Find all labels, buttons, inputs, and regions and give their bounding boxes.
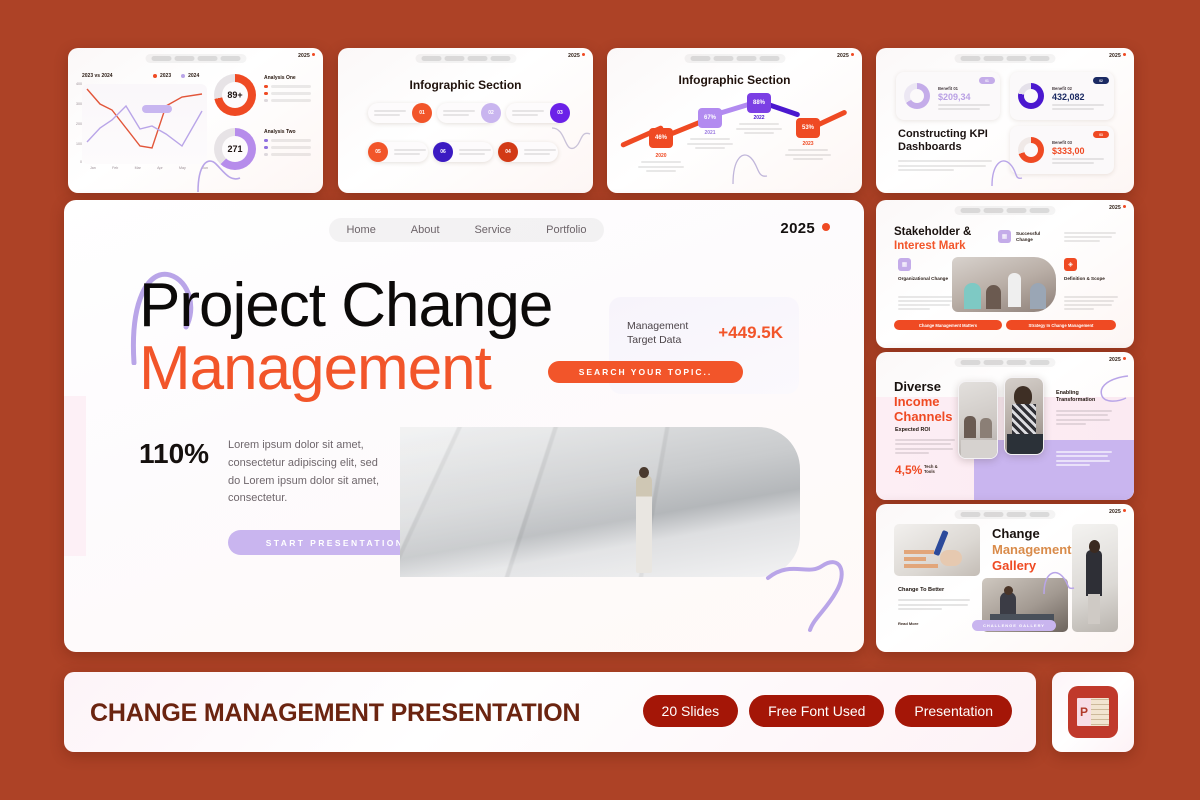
slide-year: 2025 <box>780 220 830 237</box>
side-text <box>1056 408 1112 427</box>
kpi-card-2[interactable]: 02 Benefit 02 432,082 <box>1010 72 1114 120</box>
year-dot-icon <box>1123 357 1126 360</box>
metric-value: +449.5K <box>718 323 783 343</box>
mini-nav-item <box>490 56 510 61</box>
legend-item <box>264 99 311 103</box>
step-text <box>368 108 412 117</box>
gallery-cta-button[interactable]: CHALLENGE GALLERY <box>972 620 1056 631</box>
step-number: 06 <box>433 142 453 162</box>
slide-title-line2: Interest Mark <box>894 240 966 252</box>
mini-nav-item <box>984 208 1004 213</box>
mini-nav-item <box>961 56 981 61</box>
analysis-one-legend: Analysis One <box>264 75 311 102</box>
step-text <box>388 147 432 156</box>
shield-icon: ◈ <box>1064 258 1077 271</box>
slide-title-line2: Management <box>992 542 1071 559</box>
kpi-donut <box>1018 137 1044 163</box>
block-title-3: Definition & Scope <box>1064 276 1120 282</box>
phone-mockup-2 <box>1004 377 1044 455</box>
legend-item <box>264 139 311 143</box>
mini-nav-item <box>1030 360 1050 365</box>
roi-label: Expected ROI <box>895 427 930 433</box>
poster-root: 2025 2023 vs 2024 2023 2024 400 300 200 … <box>0 0 1200 800</box>
nav-item-service[interactable]: Service <box>474 224 511 236</box>
nav-item-portfolio[interactable]: Portfolio <box>546 224 586 236</box>
step-number: 02 <box>481 103 501 123</box>
slide-title-line1: Change <box>992 526 1040 543</box>
page-title-line2: Management <box>139 338 491 400</box>
line-chart-svg <box>82 84 207 164</box>
chart-legend: 2023 2024 <box>153 73 199 79</box>
person-head <box>639 467 649 478</box>
mini-nav-item <box>1007 56 1027 61</box>
app-icon-card[interactable]: P <box>1052 672 1134 752</box>
data-point-caption: 2023 <box>780 141 836 162</box>
kpi-text <box>1052 104 1104 110</box>
data-point-value: 46% <box>649 128 673 148</box>
roi-text <box>895 437 955 456</box>
kpi-tag: 02 <box>1093 77 1109 84</box>
mini-nav-item <box>220 56 240 61</box>
kpi-card-1[interactable]: 01 Benefit 01 $209,34 <box>896 72 1000 120</box>
mini-nav-item <box>961 512 981 517</box>
thumbnail-income-slide[interactable]: 2025 Diverse Income Channels Expected RO… <box>876 352 1134 500</box>
block-text-3 <box>1064 294 1118 312</box>
legend-item <box>264 146 311 150</box>
search-topic-button[interactable]: SEARCH YOUR TOPIC.. <box>548 361 743 383</box>
legend-dot-icon <box>181 74 185 78</box>
slide-title: Infographic Section <box>338 78 593 92</box>
chart-plot-area <box>82 84 207 164</box>
data-point-value: 67% <box>698 108 722 128</box>
kpi-tag: 01 <box>979 77 995 84</box>
mini-nav-item <box>961 208 981 213</box>
slide-year: 2025 <box>1109 509 1126 515</box>
chart-y-axis: 400 300 200 100 0 <box>68 84 82 164</box>
nav-item-home[interactable]: Home <box>346 224 375 236</box>
legend-dot-icon <box>153 74 157 78</box>
step-text <box>453 147 497 156</box>
page-title-line1: Project Change <box>139 275 552 337</box>
step-number: 04 <box>498 142 518 162</box>
mini-nav-item <box>1030 208 1050 213</box>
mini-nav-item <box>984 360 1004 365</box>
donut-analysis-two: 271 <box>214 128 256 170</box>
thumbnail-kpi-slide[interactable]: 2025 01 Benefit 01 $209,34 02 Benefit 02… <box>876 48 1134 193</box>
step-number: 03 <box>550 103 570 123</box>
mini-nav-item <box>759 56 779 61</box>
panel-text <box>1056 448 1112 469</box>
data-point-caption: 2022 <box>731 115 787 136</box>
kpi-donut <box>1018 83 1044 109</box>
nav-item-about[interactable]: About <box>411 224 440 236</box>
mini-nav-item <box>736 56 756 61</box>
mini-nav <box>955 510 1056 519</box>
donut-chart: 89+ <box>214 74 256 116</box>
year-dot-icon <box>312 53 315 56</box>
mini-nav-item <box>174 56 194 61</box>
roi-subtext: Tech &Tools <box>924 464 938 475</box>
mini-nav-item <box>713 56 733 61</box>
kpi-body-text <box>898 158 992 174</box>
kpi-text <box>938 104 990 110</box>
thumbnail-chevron-slide[interactable]: 2025 Infographic Section 46% 67% 88% 53%… <box>607 48 862 193</box>
thumbnail-infographic-slide[interactable]: 2025 Infographic Section 01 02 03 05 06 … <box>338 48 593 193</box>
mini-nav-item <box>151 56 171 61</box>
powerpoint-page <box>1091 698 1109 726</box>
main-slide[interactable]: Home About Service Portfolio 2025 Projec… <box>64 200 864 652</box>
kpi-card-3[interactable]: 03 Benefit 03 $333,00 <box>1010 126 1114 174</box>
kpi-donut <box>904 83 930 109</box>
metric-label: Management Target Data <box>627 319 688 347</box>
donut-analysis-one: 89+ #thumb1 .donut::after{inset:8px;} <box>214 74 256 116</box>
data-point-value: 88% <box>747 93 771 113</box>
data-point-value: 53% <box>796 118 820 138</box>
slide-year: 2025 <box>1109 205 1126 211</box>
mini-nav-item <box>984 56 1004 61</box>
year-dot-icon <box>1123 509 1126 512</box>
mini-nav-item <box>444 56 464 61</box>
mini-nav-item <box>1007 512 1027 517</box>
badge-category[interactable]: Presentation <box>895 695 1012 727</box>
year-dot-icon <box>851 53 854 56</box>
step-number: 01 <box>412 103 432 123</box>
thumbnail-gallery-slide[interactable]: 2025 Change Management Gallery Change To… <box>876 504 1134 652</box>
kpi-label: Benefit 02 <box>1052 86 1104 91</box>
decorative-swirl <box>731 148 769 188</box>
mini-nav-item <box>197 56 217 61</box>
block-text-1 <box>1064 230 1116 244</box>
slide-title-line2: Income <box>894 394 940 410</box>
gallery-text <box>898 597 970 613</box>
data-point-caption: 2020 <box>633 153 689 174</box>
mini-nav-item <box>961 360 981 365</box>
kpi-value: $333,00 <box>1052 146 1104 156</box>
mini-nav <box>955 54 1056 63</box>
mini-nav <box>955 358 1056 367</box>
year-dot-icon <box>822 223 830 231</box>
gallery-image-3 <box>1072 524 1118 632</box>
bottom-banner: CHANGE MANAGEMENT PRESENTATION 20 Slides… <box>64 672 1036 752</box>
chart-heading: 2023 vs 2024 <box>82 73 113 79</box>
series-2023-line <box>87 89 202 148</box>
mini-nav-item <box>467 56 487 61</box>
gallery-image-1 <box>894 524 980 576</box>
grid-icon: ▦ <box>998 230 1011 243</box>
slide-title-line3: Gallery <box>992 558 1036 575</box>
kpi-value: 432,082 <box>1052 92 1104 102</box>
slide-title-line1: Stakeholder & <box>894 226 971 238</box>
chart-x-axis: Jan Feb Mar Apr May Jun <box>90 166 208 170</box>
powerpoint-letter: P <box>1077 698 1091 726</box>
kpi-heading: Constructing KPIDashboards <box>898 128 988 154</box>
mini-nav-item <box>984 512 1004 517</box>
mini-nav-item <box>1030 512 1050 517</box>
step-pill[interactable]: 03 <box>506 103 566 123</box>
mini-nav-item <box>1007 208 1027 213</box>
legend-item <box>264 85 311 89</box>
mini-nav-item <box>1007 360 1027 365</box>
step-text <box>437 108 481 117</box>
step-text <box>506 108 550 117</box>
powerpoint-glyph: P <box>1077 698 1109 726</box>
legend-item <box>264 153 311 157</box>
block-title-2: Organizational Change <box>898 276 954 282</box>
mini-nav <box>415 54 516 63</box>
cta-button-1[interactable]: Change Management Matters <box>894 320 1002 330</box>
badge-font[interactable]: Free Font Used <box>749 695 884 727</box>
legend-item <box>264 92 311 96</box>
mini-nav-item <box>421 56 441 61</box>
person-figure <box>636 475 652 573</box>
stat-percent: 110% <box>139 438 209 470</box>
slide-year: 2025 <box>568 53 585 59</box>
meeting-photo <box>952 257 1056 312</box>
step-pill[interactable]: 04 <box>498 142 558 162</box>
slide-year: 2025 <box>1109 53 1126 59</box>
kpi-label: Benefit 03 <box>1052 140 1104 145</box>
phone-mockup-1 <box>958 381 998 459</box>
slide-title: Infographic Section <box>607 73 862 87</box>
thumbnail-chart-slide[interactable]: 2025 2023 vs 2024 2023 2024 400 300 200 … <box>68 48 323 193</box>
slide-year: 2025 <box>298 53 315 59</box>
step-number: 05 <box>368 142 388 162</box>
step-pill[interactable]: 02 <box>437 103 497 123</box>
banner-title: CHANGE MANAGEMENT PRESENTATION <box>90 699 580 728</box>
kpi-tag: 03 <box>1093 131 1109 138</box>
year-dot-icon <box>1123 205 1126 208</box>
year-dot-icon <box>1123 53 1126 56</box>
block-text-2 <box>898 294 956 312</box>
step-pill[interactable]: 06 <box>433 142 493 162</box>
badge-slides[interactable]: 20 Slides <box>643 695 739 727</box>
slide-title-line1: Diverse <box>894 379 941 395</box>
gallery-subtitle: Change To Better <box>898 587 944 593</box>
analysis-two-legend: Analysis Two <box>264 129 311 156</box>
chart-tooltip-badge <box>142 105 172 113</box>
mini-nav-item <box>690 56 710 61</box>
read-more-link[interactable]: Read More <box>898 621 918 626</box>
roi-value: 4,5% <box>895 463 922 477</box>
mini-nav <box>145 54 246 63</box>
data-point-caption: 2021 <box>682 130 738 151</box>
mini-nav <box>684 54 785 63</box>
block-title-1: Successful Change <box>1016 231 1058 243</box>
mini-nav-item <box>1030 56 1050 61</box>
kpi-text <box>1052 158 1104 164</box>
grid-icon: ▦ <box>898 258 911 271</box>
slide-year: 2025 <box>837 53 854 59</box>
main-nav[interactable]: Home About Service Portfolio <box>329 218 604 242</box>
powerpoint-icon: P <box>1068 686 1118 738</box>
cta-button-2[interactable]: Strategy In Change Management <box>1006 320 1116 330</box>
kpi-label: Benefit 01 <box>938 86 990 91</box>
hero-image <box>400 427 800 577</box>
slide-title-line3: Channels <box>894 409 953 425</box>
thumbnail-stakeholder-slide[interactable]: 2025 Stakeholder & Interest Mark ▦ Succe… <box>876 200 1134 348</box>
step-text <box>518 147 562 156</box>
kpi-value: $209,34 <box>938 92 990 102</box>
step-pill[interactable]: 05 <box>368 142 428 162</box>
body-copy: Lorem ipsum dolor sit amet, consectetur … <box>228 437 388 508</box>
left-accent-strip <box>64 396 86 556</box>
mini-nav <box>955 206 1056 215</box>
side-title: EnablingTransformation <box>1056 390 1095 405</box>
banner-badges: 20 Slides Free Font Used Presentation <box>643 695 1012 727</box>
step-pill[interactable]: 01 <box>368 103 428 123</box>
donut-chart: 271 <box>214 128 256 170</box>
year-dot-icon <box>582 53 585 56</box>
slide-year: 2025 <box>1109 357 1126 363</box>
